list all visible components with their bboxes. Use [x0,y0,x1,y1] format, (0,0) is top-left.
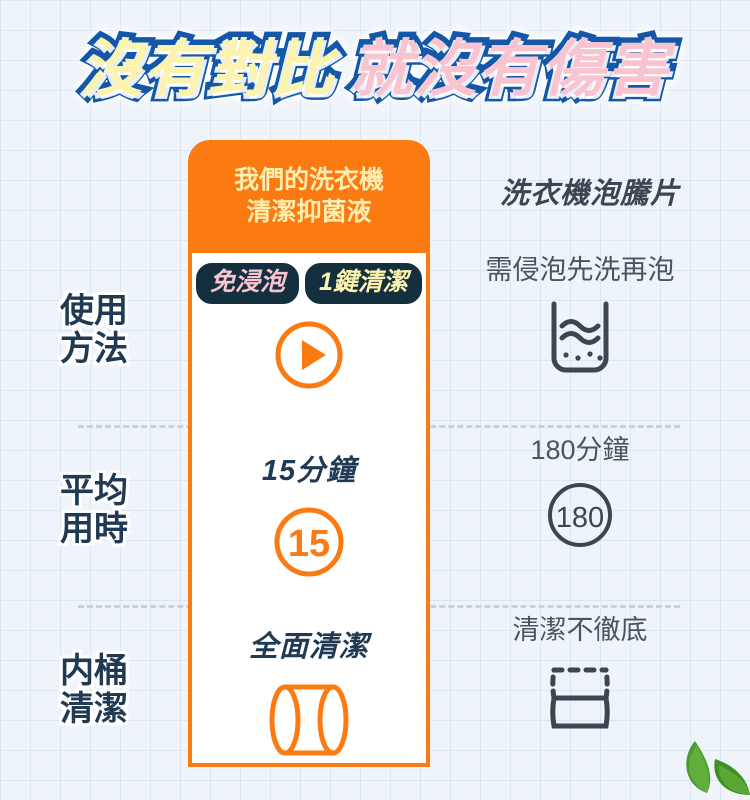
competitor-time-value: 180 [556,502,604,534]
badge-one-click: 1鍵清潔 [305,263,422,304]
drum-full-icon [259,679,359,761]
competitor-usage-text: 需侵泡先洗再泡 [486,257,675,284]
page-title: 沒有對比 就沒有傷害 [0,30,750,110]
our-cell-usage: 免浸泡 1鍵清潔 [192,257,426,425]
competitor-header: 洗衣機泡騰片 [430,170,750,212]
row-label-usage: 使用 方法 [0,275,188,385]
title-part-1: 沒有對比 [80,39,336,101]
our-product-header: 我們的洗衣機 清潔抑菌液 [188,140,430,253]
row-label-usage-line2: 方法 [60,330,128,368]
competitor-time-text: 180分鐘 [530,437,629,464]
drum-partial-icon [534,658,626,734]
badge-no-soak: 免浸泡 [196,263,299,304]
our-product-column: 我們的洗衣機 清潔抑菌液 免浸泡 1鍵清潔 15分鐘 [188,140,430,767]
row-label-drum-line2: 清潔 [60,690,128,728]
row-label-drum: 内桶 清潔 [0,635,188,745]
our-cell-drum: 全面清潔 [192,609,426,764]
row-label-column: 使用 方法 平均 用時 内桶 清潔 [0,140,188,770]
competitor-cell-time: 180分鐘 180 [430,437,730,552]
row-label-usage-line1: 使用 [60,292,128,330]
our-product-header-line2: 清潔抑菌液 [246,197,371,228]
our-cell-time: 15分鐘 15 [192,433,426,601]
competitor-cell-usage: 需侵泡先洗再泡 [430,257,730,376]
time-circle-icon: 180 [543,478,617,552]
competitor-drum-text: 清潔不徹底 [513,617,648,644]
row-label-time-line2: 用時 [60,510,128,548]
row-label-drum-line1: 内桶 [60,652,128,690]
soak-basin-icon [538,298,622,376]
our-usage-badges: 免浸泡 1鍵清潔 [196,263,422,304]
row-label-time: 平均 用時 [0,455,188,565]
row-label-time-line1: 平均 [60,472,128,510]
competitor-column: 洗衣機泡騰片 需侵泡先洗再泡 180分鐘 180 [430,140,750,767]
our-time-text: 15分鐘 [262,447,356,489]
comparison-table: 使用 方法 平均 用時 内桶 清潔 我們的洗衣機 清潔抑菌液 免浸泡 1鍵清潔 [0,140,750,770]
our-product-body: 免浸泡 1鍵清潔 15分鐘 15 [188,253,430,767]
our-drum-text: 全面清潔 [249,623,369,665]
play-circle-icon [272,318,346,392]
time-circle-icon: 15 [270,503,348,581]
title-part-2: 就沒有傷害 [350,39,670,101]
our-product-header-line1: 我們的洗衣機 [234,165,384,196]
leaf-icon [655,715,750,795]
our-time-value: 15 [288,523,330,565]
